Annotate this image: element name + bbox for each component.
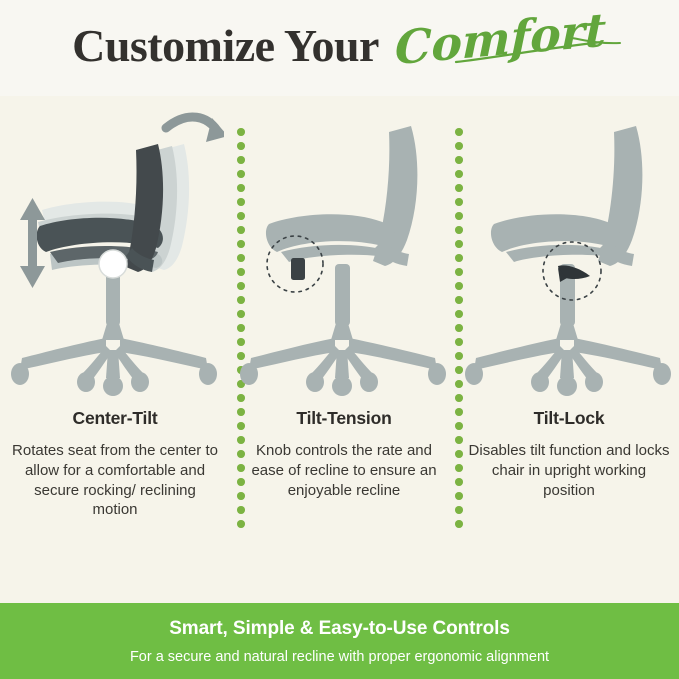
feature-title: Tilt-Lock xyxy=(460,408,678,429)
curved-rotation-arrow xyxy=(166,117,224,142)
chair-tilt-lock-illustration xyxy=(460,106,678,396)
page-title: Customize Your Comfort xyxy=(0,0,679,96)
pivot-point-circle xyxy=(99,250,127,278)
tension-knob xyxy=(289,253,305,280)
feature-description: Rotates seat from the center to allow fo… xyxy=(6,441,224,520)
gas-cylinder xyxy=(335,264,350,326)
feature-column-center-tilt: Center-Tilt Rotates seat from the center… xyxy=(6,96,224,604)
caption-center-tilt: Center-Tilt Rotates seat from the center… xyxy=(6,408,224,520)
chair-base xyxy=(11,320,217,396)
feature-columns: Center-Tilt Rotates seat from the center… xyxy=(0,96,679,604)
caption-tilt-tension: Tilt-Tension Knob controls the rate and … xyxy=(235,408,453,500)
footer-subtitle: For a secure and natural recline with pr… xyxy=(130,649,549,665)
footer-banner: Smart, Simple & Easy-to-Use Controls For… xyxy=(0,603,679,679)
infographic-root: Customize Your Comfort xyxy=(0,0,679,679)
title-main-text: Customize Your xyxy=(72,23,379,69)
caption-tilt-lock: Tilt-Lock Disables tilt function and loc… xyxy=(460,408,678,500)
feature-title: Tilt-Tension xyxy=(235,408,453,429)
feature-column-tilt-tension: Tilt-Tension Knob controls the rate and … xyxy=(235,96,453,604)
feature-title: Center-Tilt xyxy=(6,408,224,429)
header-band: Customize Your Comfort xyxy=(0,0,679,96)
chair-base xyxy=(240,320,446,396)
chair-center-tilt-illustration xyxy=(6,106,224,396)
footer-title: Smart, Simple & Easy-to-Use Controls xyxy=(169,618,510,640)
feature-column-tilt-lock: Tilt-Lock Disables tilt function and loc… xyxy=(460,96,678,604)
feature-description: Knob controls the rate and ease of recli… xyxy=(235,441,453,500)
feature-description: Disables tilt function and locks chair i… xyxy=(460,441,678,500)
chair-base xyxy=(465,320,671,396)
chair-tilt-tension-illustration xyxy=(235,106,453,396)
title-script-text: Comfort xyxy=(395,6,607,71)
